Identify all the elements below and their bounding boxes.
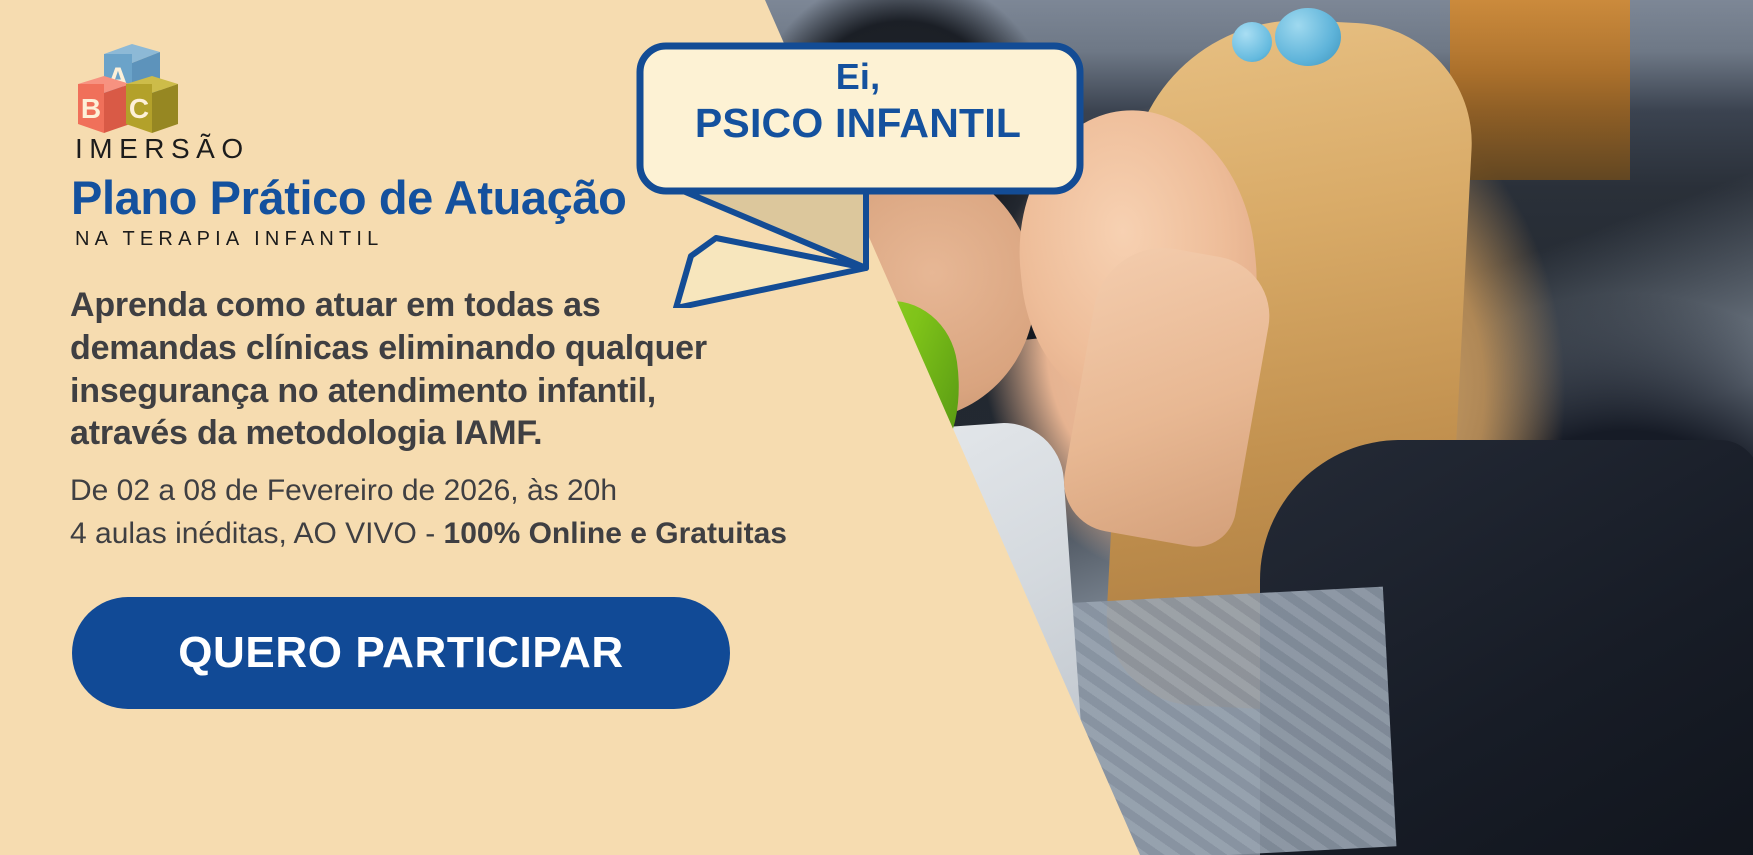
detail-classes-highlight: 100% Online e Gratuitas xyxy=(444,517,787,550)
page-title: Plano Prático de Atuação xyxy=(71,170,626,225)
logo-block-c: C xyxy=(126,76,178,133)
event-details: De 02 a 08 de Fevereiro de 2026, às 20h … xyxy=(70,470,970,555)
detail-classes-prefix: 4 aulas inéditas, AO VIVO - xyxy=(70,517,444,550)
lead-line-4: através da metodologia IAMF. xyxy=(70,412,830,455)
abc-blocks-logo: A B C xyxy=(74,26,199,136)
photo-wall-light xyxy=(1450,0,1630,180)
promo-banner: A B C IMERSÃO Plano Prático de Atuação N… xyxy=(0,0,1753,855)
quero-participar-button[interactable]: QUERO PARTICIPAR xyxy=(72,597,730,709)
photo-hair-clip xyxy=(1275,8,1341,66)
sub-eyebrow-label: NA TERAPIA INFANTIL xyxy=(75,228,384,251)
svg-text:B: B xyxy=(81,93,101,124)
lead-paragraph: Aprenda como atuar em todas as demandas … xyxy=(70,284,830,455)
speech-bubble-tail xyxy=(676,188,866,308)
lead-line-2: demandas clínicas eliminando qualquer xyxy=(70,327,830,370)
photo-hair-clip-2 xyxy=(1232,22,1272,62)
detail-classes-line: 4 aulas inéditas, AO VIVO - 100% Online … xyxy=(70,513,970,556)
speech-bubble-body xyxy=(640,46,1080,191)
speech-bubble: Ei, PSICO INFANTIL xyxy=(628,18,1088,308)
logo-block-b: B xyxy=(78,76,130,133)
detail-date-line: De 02 a 08 de Fevereiro de 2026, às 20h xyxy=(70,470,970,513)
lead-line-3: insegurança no atendimento infantil, xyxy=(70,370,830,413)
eyebrow-label: IMERSÃO xyxy=(75,133,250,165)
svg-text:C: C xyxy=(129,93,149,124)
